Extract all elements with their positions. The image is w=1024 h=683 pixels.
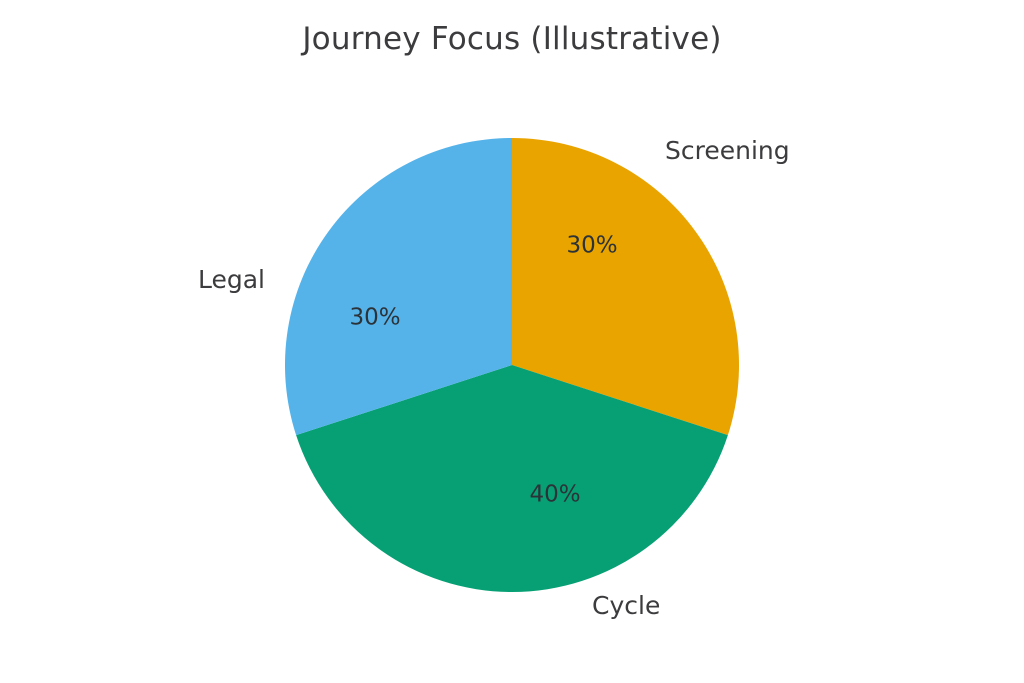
pie-label-screening: Screening: [665, 136, 790, 165]
pie-value-label-cycle: 40%: [529, 482, 580, 508]
pie-value-label-legal: 30%: [349, 305, 400, 331]
pie-label-legal: Legal: [198, 265, 265, 294]
pie-slices: [285, 138, 739, 592]
pie-label-cycle: Cycle: [592, 591, 660, 620]
pie-chart-figure: Journey Focus (Illustrative) 30% 40% 30%…: [0, 0, 1024, 683]
pie-value-label-screening: 30%: [566, 233, 617, 259]
pie-chart-canvas: 30% 40% 30% Screening Cycle Legal: [0, 0, 1024, 683]
